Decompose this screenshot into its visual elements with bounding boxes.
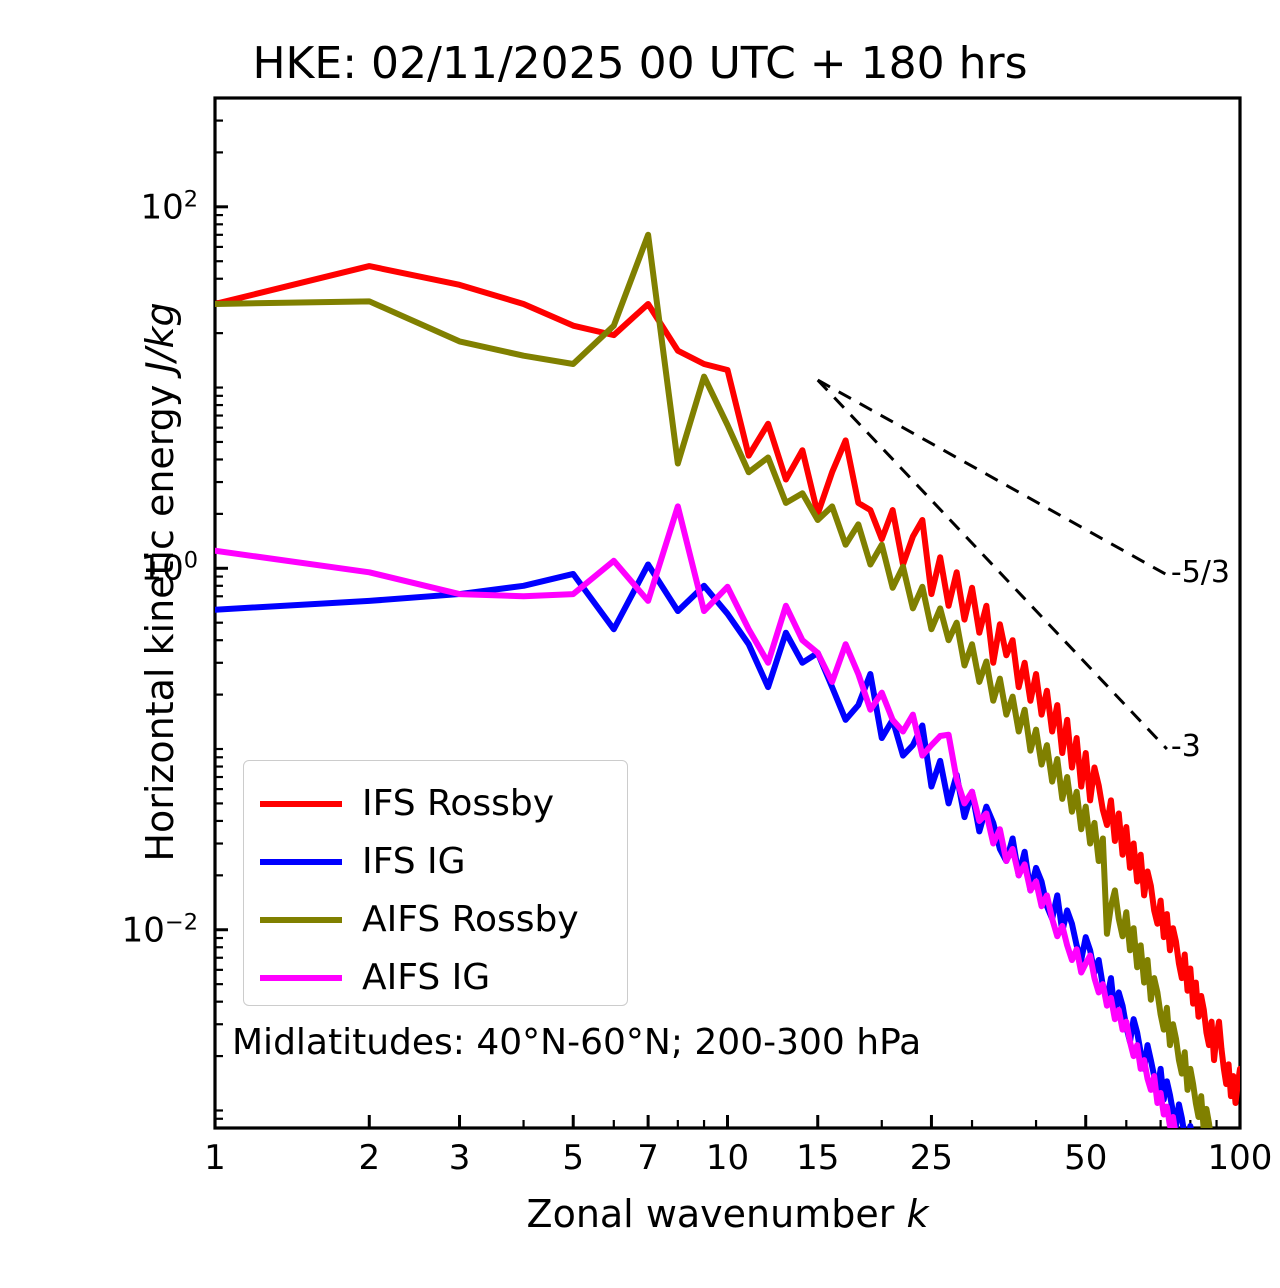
- y-tick-label: 102: [140, 186, 198, 227]
- x-tick-label: 2: [358, 1138, 380, 1178]
- x-tick-label: 7: [637, 1138, 659, 1178]
- x-tick-label: 15: [796, 1138, 839, 1178]
- figure-canvas: HKE: 02/11/2025 00 UTC + 180 hrs Horizon…: [0, 0, 1280, 1288]
- legend-color-swatch: [260, 859, 342, 865]
- legend-color-swatch: [260, 801, 342, 807]
- legend-item[interactable]: IFS Rossby: [260, 775, 554, 833]
- legend-item-label: IFS Rossby: [362, 786, 554, 822]
- slope-label: -5/3: [1171, 555, 1230, 590]
- x-tick-label: 50: [1064, 1138, 1107, 1178]
- slope-label: -3: [1171, 729, 1201, 764]
- y-tick-label: 10−2: [122, 909, 198, 950]
- legend-color-swatch: [260, 975, 342, 981]
- legend-item-label: AIFS IG: [362, 960, 490, 996]
- x-tick-label: 25: [910, 1138, 953, 1178]
- legend-item[interactable]: IFS IG: [260, 833, 466, 891]
- legend-item-label: AIFS Rossby: [362, 902, 579, 938]
- legend-color-swatch: [260, 917, 342, 923]
- x-tick-label: 10: [706, 1138, 749, 1178]
- y-tick-label: 100: [140, 548, 198, 589]
- x-tick-label: 100: [1208, 1138, 1273, 1178]
- x-tick-label: 1: [204, 1138, 226, 1178]
- legend-item[interactable]: AIFS Rossby: [260, 891, 579, 949]
- x-tick-label: 5: [562, 1138, 584, 1178]
- legend-item[interactable]: AIFS IG: [260, 949, 490, 1007]
- region-annotation: Midlatitudes: 40°N-60°N; 200-300 hPa: [232, 1022, 921, 1063]
- legend-item-label: IFS IG: [362, 844, 466, 880]
- x-tick-label: 3: [449, 1138, 471, 1178]
- slope-line: [818, 380, 1167, 575]
- legend-box: IFS RossbyIFS IGAIFS RossbyAIFS IG: [243, 760, 628, 1006]
